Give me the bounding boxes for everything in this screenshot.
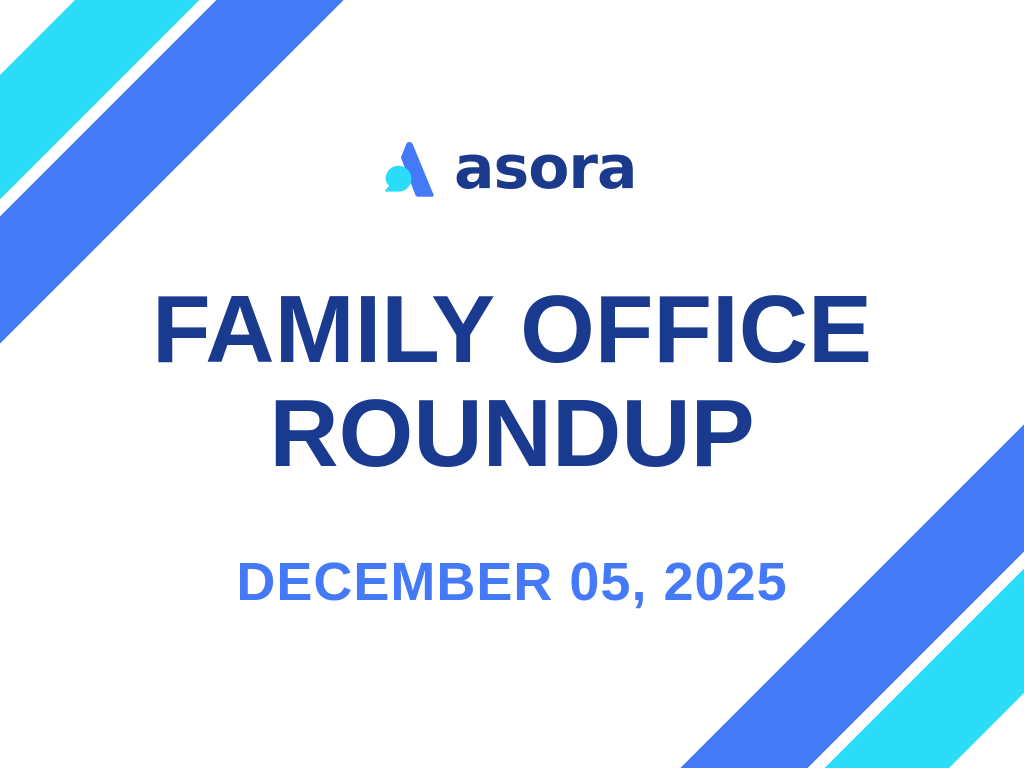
issue-date: DECEMBER 05, 2025 [0,553,1024,612]
promo-banner: asora FAMILY OFFICE ROUNDUP DECEMBER 05,… [0,0,1024,768]
page-title: FAMILY OFFICE ROUNDUP [0,278,1024,485]
asora-logo: asora [376,137,658,203]
page-title-line-2: ROUNDUP [0,382,1024,486]
asora-logo-mark-icon [376,137,442,203]
page-title-line-1: FAMILY OFFICE [0,278,1024,382]
asora-wordmark: asora [454,138,637,198]
